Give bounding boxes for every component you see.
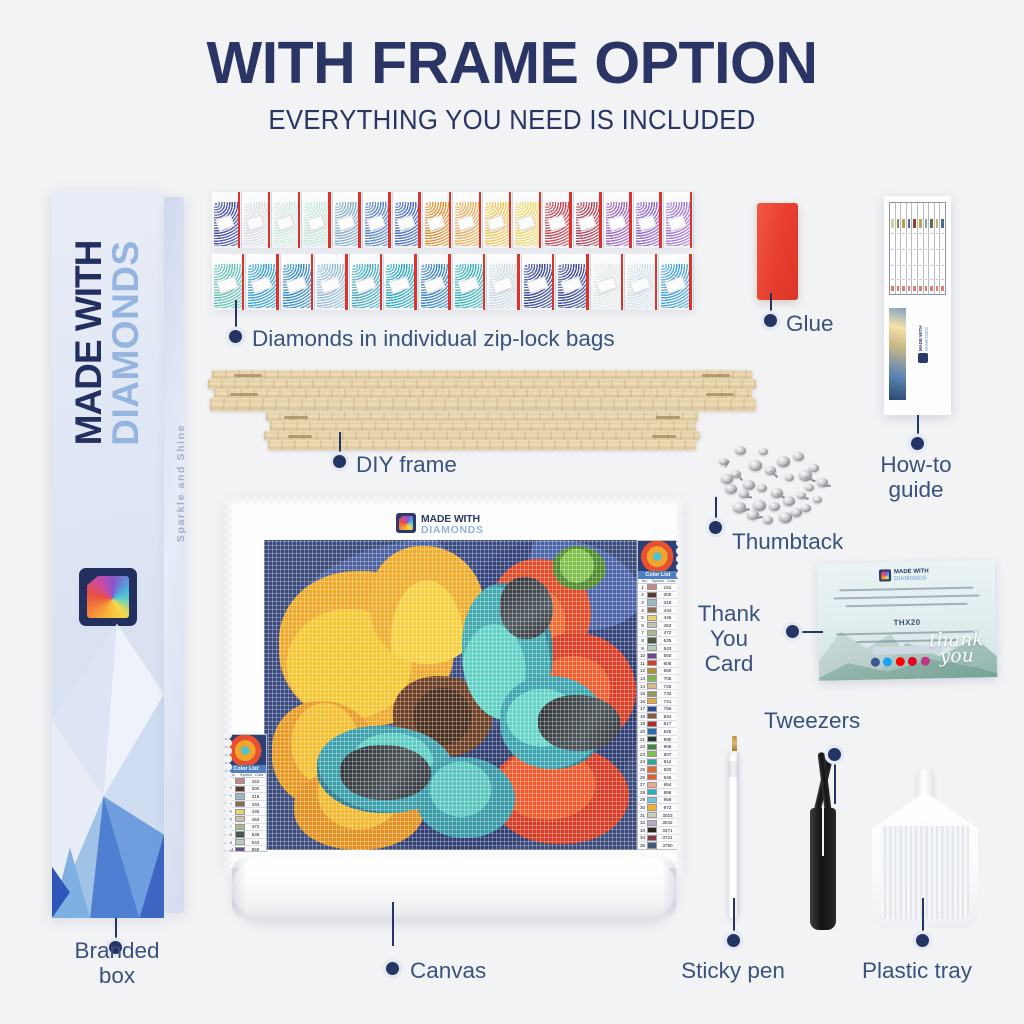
color-row-swatch [647,607,657,613]
frame-notch [284,416,308,419]
label-tweezers: Tweezers [764,708,860,733]
sticky-pen [727,733,741,918]
canvas-scallop [676,715,684,723]
thumbtack [725,484,737,494]
ziplock-bag [574,192,604,248]
color-list-row: 4434 [226,801,266,809]
bag-zip-seal [569,192,572,248]
artwork-preview [638,541,678,571]
color-list-row: 16741 [638,698,678,706]
color-list-row: 6453 [226,816,266,824]
thumbtack-pin [821,484,831,487]
bag-zip-seal [690,192,693,248]
color-row-code: 318 [245,794,266,799]
color-row-swatch [647,789,657,795]
bag-zip-seal [509,192,512,248]
facebook-icon [871,658,880,667]
guide-divider [891,279,894,280]
canvas-scallop [224,739,232,747]
guide-divider [941,265,944,266]
color-list-title: Color List [226,765,266,773]
canvas-scallop [307,496,315,504]
thumbtack-pile [713,440,841,534]
color-row-swatch [647,804,657,810]
canvas-scallop [259,496,267,504]
color-row-no: 17 [638,706,647,711]
bag-shine [384,254,417,310]
ziplock-bag [453,192,483,248]
branded-box-side: Sparkle and Shine [164,197,184,913]
color-row-no: 35 [638,843,647,848]
color-row-swatch [647,797,657,803]
canvas-scallop [224,595,232,603]
color-list-row: 5445 [638,614,678,622]
pen-grip [728,761,739,777]
bag-zip-seal [552,254,555,310]
frame-bar [208,379,756,389]
guide-divider [891,249,894,250]
color-row-swatch [235,809,245,815]
color-row-no: 3 [638,600,647,605]
ziplock-bag [604,192,634,248]
canvas-scallop [676,851,684,859]
canvas-scallop [224,539,232,547]
guide-divider [902,233,905,234]
canvas-scallop [676,867,684,875]
canvas-rolled-bottom [232,857,676,919]
callout-dot-plastic-tray [916,934,929,947]
color-row-code: 680 [657,668,678,673]
canvas-scallop [523,496,531,504]
color-row-no: 7 [638,630,647,635]
color-row-code: 972 [657,805,678,810]
canvas-scallop [224,651,232,659]
thumbtack-pin [743,496,752,499]
canvas-scallop [539,496,547,504]
color-list-row: 26946 [638,774,678,782]
canvas-scallop [651,496,659,504]
color-row-no: 28 [638,790,647,795]
color-row-no: 6 [638,623,647,628]
guide-divider [897,249,900,250]
guide-swatch [930,219,933,228]
color-list-row: 3318 [226,793,266,801]
canvas-scallop [224,707,232,715]
card-text-line [834,594,980,599]
canvas-scallop [467,496,475,504]
canvas-color-list-right: Color ListNo.SymbolColor1152230033184434… [637,540,679,850]
canvas-scallop [224,659,232,667]
bag-zip-seal [655,254,658,310]
guide-divider [941,249,944,250]
canvas-scallop [659,496,667,504]
bag-zip-seal [242,254,245,310]
canvas-scallop [224,691,232,699]
color-row-code: 543 [657,646,678,651]
ziplock-bag [543,192,573,248]
canvas-scallop [224,643,232,651]
bag-shine [281,254,314,310]
color-row-code: 550 [657,653,678,658]
color-row-no: 12 [638,668,647,673]
label-branded-box: Branded box [62,938,172,988]
bag-zip-seal [328,192,331,248]
color-list-row: 27954 [638,781,678,789]
canvas-scallop [224,803,232,811]
youtube-icon [896,657,905,666]
color-row-swatch [647,584,657,590]
guide-divider [936,249,939,250]
guide-divider [936,265,939,266]
color-row-code: 946 [657,775,678,780]
guide-divider [913,233,916,234]
guide-divider [930,233,933,234]
canvas-scallop [676,795,684,803]
callout-dot-glue [764,314,777,327]
canvas-scallop [299,496,307,504]
canvas-scallop [676,555,684,563]
ziplock-bag [625,254,659,310]
canvas-scallop [411,496,419,504]
diamond-drill-grid [264,540,644,850]
canvas-scallop [676,771,684,779]
frame-bar [214,389,752,398]
frame-notch [652,435,676,438]
ziplock-bag [419,254,453,310]
thumbtack [813,496,822,503]
diy-frame-bars [208,368,760,454]
canvas-scallop [224,499,232,507]
color-row-code: 912 [657,759,678,764]
color-row-swatch [647,713,657,719]
guide-swatch [908,219,911,228]
frame-bar [268,440,696,450]
guide-divider [925,279,928,280]
guide-divider [908,249,911,250]
ziplock-bag [246,254,280,310]
canvas-scallop [224,587,232,595]
label-thank-you-card: Thank You Card [676,601,782,677]
bag-zip-seal [483,254,486,310]
color-list-row: 22906 [638,743,678,751]
canvas-scallop [676,707,684,715]
bag-zip-seal [586,254,589,310]
color-list-row: 10550 [638,652,678,660]
color-row-no: 31 [638,813,647,818]
color-row-swatch [235,801,245,807]
canvas-scallop [667,496,675,504]
canvas-scallop [571,496,579,504]
ziplock-bag [281,254,315,310]
color-row-swatch [647,842,657,848]
canvas-scallop [224,699,232,707]
guide-divider [913,279,916,280]
ziplock-bag [315,254,349,310]
canvas-scallop [224,571,232,579]
guide-divider [902,249,905,250]
guide-divider [925,233,928,234]
canvas-scallop [395,496,403,504]
branded-box-wordmark: MADE WITH DIAMONDS [71,203,157,483]
color-row-no: 26 [638,775,647,780]
ziplock-bag [272,192,302,248]
ziplock-bag [591,254,625,310]
thumbtack [749,460,762,471]
callout-dot-thank-you-card [786,625,799,638]
color-list-row: 7472 [226,824,266,832]
guide-swatch [897,219,900,228]
color-list-row: 343721 [638,835,678,843]
low-poly-decoration [52,598,164,918]
callout-dot-thumbtack [709,521,722,534]
ziplock-bag [487,254,521,310]
color-row-swatch [647,812,657,818]
color-row-code: 890 [657,737,678,742]
color-row-no: 22 [638,744,647,749]
color-row-code: 920 [657,767,678,772]
thumbtack [757,484,767,492]
canvas-scallop [587,496,595,504]
guide-red-value [913,286,916,291]
ziplock-bag [556,254,590,310]
guide-red-value [902,286,905,291]
color-row-swatch [647,622,657,628]
bag-zip-seal [659,192,662,248]
frame-bar [264,431,700,440]
canvas-scallop [459,496,467,504]
color-row-no: 18 [638,714,647,719]
canvas-scallop [563,496,571,504]
guide-swatch [913,219,916,228]
bag-zip-seal [380,254,383,310]
canvas-scallop [224,507,232,515]
label-diy-frame: DIY frame [356,452,457,477]
thumbtack [743,480,755,490]
color-row-no: 34 [638,835,647,840]
frame-bar [266,412,698,421]
color-row-swatch [647,759,657,765]
canvas-scallop [371,496,379,504]
canvas-scallop [676,731,684,739]
guide-divider [919,249,922,250]
color-row-no: 16 [638,699,647,704]
callout-dot-bags [229,330,242,343]
color-row-code: 3042 [657,820,678,825]
color-row-swatch [235,824,245,830]
canvas-scallop [224,667,232,675]
canvas-scallop [224,563,232,571]
color-row-code: 796 [657,706,678,711]
color-list-row: 1152 [226,778,266,786]
thumbtack [769,502,780,511]
ziplock-bag [393,192,423,248]
ziplock-bag [333,192,363,248]
guide-color-chart [889,202,946,295]
color-row-code: 728 [657,684,678,689]
color-row-no: 1 [638,585,647,590]
canvas-scallop [515,496,523,504]
thumbtack [759,448,768,455]
canvas-scallop [224,515,232,523]
canvas-scallop [224,611,232,619]
color-list-row: 9543 [638,645,678,653]
canvas-artwork [264,540,644,850]
color-list-row: 1152 [638,584,678,592]
color-row-code: 959 [657,797,678,802]
color-row-swatch [235,786,245,792]
canvas-scallop [224,523,232,531]
card-social-icons [871,657,930,667]
canvas-scallop [403,496,411,504]
canvas-scallop [243,496,251,504]
canvas-scallop [531,496,539,504]
bag-zip-seal [539,192,542,248]
color-list-row: 9543 [226,839,266,847]
color-row-code: 825 [657,729,678,734]
diamond-gem-icon [879,569,891,581]
canvas-scallop [224,675,232,683]
guide-divider [908,233,911,234]
color-row-code: 3750 [657,843,678,848]
ziplock-bag [522,254,556,310]
label-thumbtack: Thumbtack [732,529,843,554]
branded-box: MADE WITH DIAMONDS Sparkle and Shine [52,190,184,918]
frame-notch [702,374,730,377]
guide-divider [908,279,911,280]
canvas-scallop [676,499,684,507]
canvas-scallop [224,531,232,539]
artwork-preview [226,735,266,765]
canvas-scallop [547,496,555,504]
leader-line-thank-you-card [795,631,823,633]
ziplock-bag [453,254,487,310]
canvas-scallop [676,819,684,827]
color-row-code: 535 [245,832,266,837]
color-row-swatch [235,778,245,784]
thumbtack-pin [752,516,763,520]
canvas-scallop [235,496,243,504]
canvas-scallop [507,496,515,504]
color-list-row: 29959 [638,797,678,805]
color-list-row: 12680 [638,668,678,676]
color-row-no: 2 [638,592,647,597]
bag-zip-seal [414,254,417,310]
bag-shine [625,254,658,310]
color-row-no: 33 [638,828,647,833]
canvas-scallop [291,496,299,504]
brand-tagline: Sparkle and Shine [175,408,187,558]
guide-red-value [908,286,911,291]
thank-you-card: MADE WITH DIAMONDS THX20 thank you [817,560,997,681]
guide-red-value [936,286,939,291]
color-row-code: 152 [657,585,678,590]
tray-grooves [881,826,969,919]
canvas-scallop [619,496,627,504]
color-row-code: 472 [657,630,678,635]
canvas-scallop [627,496,635,504]
bag-zip-seal [449,192,452,248]
canvas-logo: MADE WITH DIAMONDS [396,512,514,534]
color-row-swatch [647,630,657,636]
color-row-swatch [647,691,657,697]
bag-zip-seal [276,254,279,310]
thumbtack [763,516,773,524]
color-row-swatch [235,839,245,845]
bag-zip-seal [345,254,348,310]
canvas-scallop [435,496,443,504]
guide-swatch [941,219,944,228]
color-row-no: 9 [638,646,647,651]
canvas-scallop [347,496,355,504]
color-row-swatch [235,793,245,799]
canvas-scallop [595,496,603,504]
color-row-code: 732 [657,691,678,696]
callout-dot-sticky-pen [727,934,740,947]
canvas-scallop [635,496,643,504]
canvas-scallop [676,699,684,707]
bag-shine [212,254,245,310]
canvas-scallop [676,539,684,547]
canvas-scallop [224,771,232,779]
bag-shine [659,254,692,310]
bag-shine [350,254,383,310]
guide-divider [936,279,939,280]
color-row-swatch [647,728,657,734]
color-row-swatch [647,698,657,704]
bag-zip-seal [418,192,421,248]
canvas-scallop [676,779,684,787]
leader-line-tweezers [834,762,836,804]
color-row-code: 434 [245,802,266,807]
guide-divider [930,249,933,250]
color-row-swatch [647,668,657,674]
canvas-scallop [315,496,323,504]
canvas-scallop [676,803,684,811]
bag-shine [591,254,624,310]
color-row-no: 27 [638,782,647,787]
bag-zip-seal [621,254,624,310]
color-row-swatch [647,782,657,788]
color-row-code: 318 [657,600,678,605]
guide-divider [897,279,900,280]
color-list-row: 313023 [638,812,678,820]
color-row-swatch [647,660,657,666]
canvas-scallop [451,496,459,504]
canvas-scallop [443,496,451,504]
color-row-code: 606 [657,661,678,666]
bag-zip-seal [238,192,241,248]
guide-swatch [919,219,922,228]
canvas-scallop [643,496,651,504]
ziplock-bag [634,192,664,248]
card-logo-line2: DIAMONDS [894,575,927,582]
thumbtack [753,500,766,511]
diamond-gem-icon [396,513,416,533]
canvas-scallop [224,603,232,611]
guide-logo: MADE WITH DIAMONDS [916,335,946,363]
guide-divider [897,233,900,234]
canvas-scallop [676,859,684,867]
canvas-scallop [676,531,684,539]
canvas-scallop [555,496,563,504]
guide-divider [925,265,928,266]
color-row-no: 11 [638,661,647,666]
guide-red-value [930,286,933,291]
color-row-swatch [647,744,657,750]
thumbtack [779,512,792,523]
bag-shine [419,254,452,310]
twitter-icon [883,657,892,666]
